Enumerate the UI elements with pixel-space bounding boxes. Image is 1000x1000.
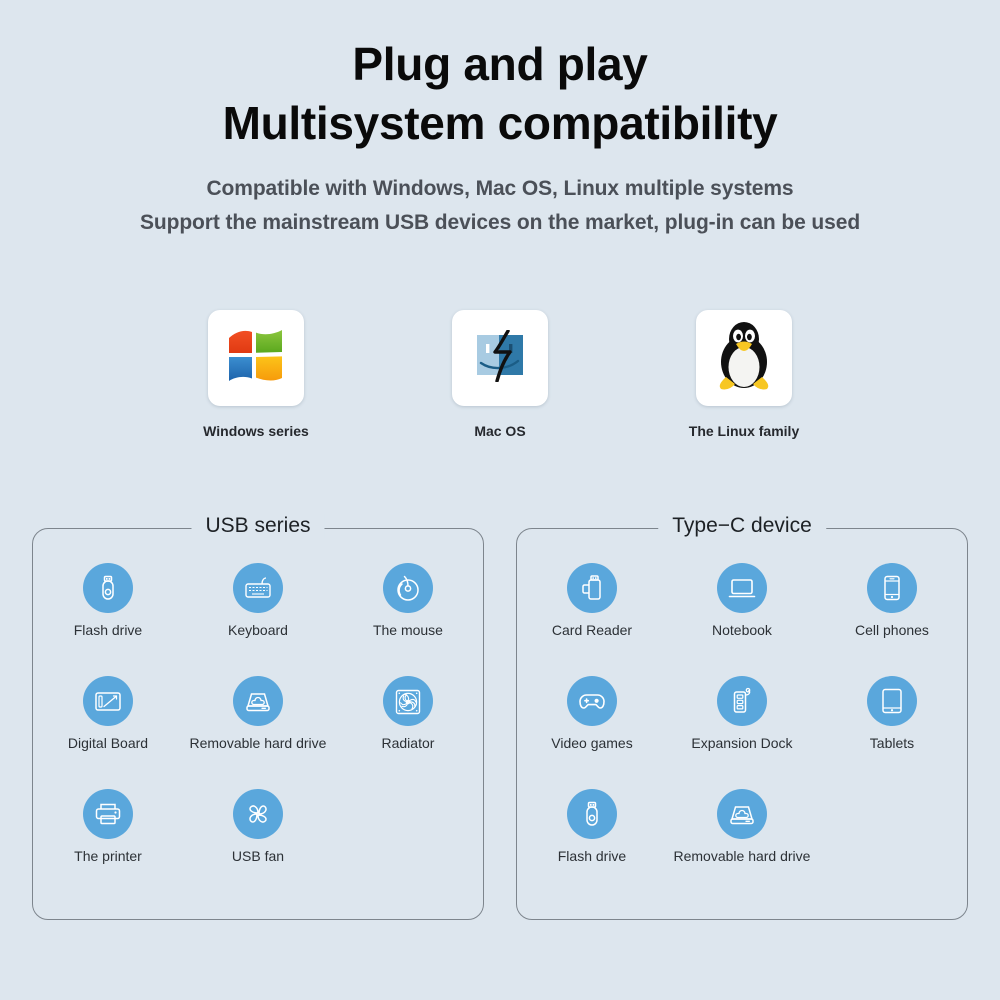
os-label-linux: The Linux family	[678, 423, 810, 439]
device-label: Keyboard	[183, 622, 333, 638]
panel-type-c-device: Type−C device Card Reader	[516, 528, 968, 920]
linux-penguin-logo-icon	[713, 319, 775, 398]
device-label: The mouse	[333, 622, 483, 638]
device-label: Radiator	[333, 735, 483, 751]
device-item-tablets[interactable]: Tablets	[817, 676, 967, 789]
device-label: USB fan	[183, 848, 333, 864]
device-label: Digital Board	[33, 735, 183, 751]
device-item-usb-fan[interactable]: USB fan	[183, 789, 333, 902]
mac-finder-logo-icon	[471, 330, 529, 387]
device-panels: USB series Flash drive	[32, 528, 968, 920]
usb-flash-drive-icon	[83, 563, 133, 613]
device-item-video-games[interactable]: Video games	[517, 676, 667, 789]
panel-usb-series: USB series Flash drive	[32, 528, 484, 920]
product-infographic: Plug and play Multisystem compatibility …	[0, 0, 1000, 1000]
panel-title-type-c-device: Type−C device	[658, 514, 826, 538]
page-title-line-2: Multisystem compatibility	[0, 92, 1000, 154]
card-reader-icon	[567, 563, 617, 613]
subtitle-line-1: Compatible with Windows, Mac OS, Linux m…	[0, 172, 1000, 206]
cooling-fan-radiator-icon	[383, 676, 433, 726]
smartphone-icon	[867, 563, 917, 613]
usb-flash-drive-icon	[567, 789, 617, 839]
device-item-digital-board[interactable]: Digital Board	[33, 676, 183, 789]
device-item-flash-drive[interactable]: Flash drive	[33, 563, 183, 676]
expansion-dock-icon	[717, 676, 767, 726]
device-label: Removable hard drive	[667, 848, 817, 864]
page-title-line-1: Plug and play	[0, 36, 1000, 92]
tablet-icon	[867, 676, 917, 726]
os-item-linux: The Linux family	[678, 310, 810, 439]
os-support-row: Windows series Mac OS	[0, 310, 1000, 439]
device-label: Flash drive	[517, 848, 667, 864]
device-label: Removable hard drive	[183, 735, 333, 751]
device-item-flash-drive[interactable]: Flash drive	[517, 789, 667, 902]
type-c-device-grid: Card Reader Notebook	[517, 563, 967, 902]
device-item-expansion-dock[interactable]: Expansion Dock	[667, 676, 817, 789]
device-item-card-reader[interactable]: Card Reader	[517, 563, 667, 676]
os-tile-macos	[452, 310, 548, 406]
os-item-windows: Windows series	[190, 310, 322, 439]
printer-icon	[83, 789, 133, 839]
panel-title-usb-series: USB series	[191, 514, 324, 538]
os-item-macos: Mac OS	[434, 310, 566, 439]
os-label-macos: Mac OS	[434, 423, 566, 439]
device-item-radiator[interactable]: Radiator	[333, 676, 483, 789]
usb-series-grid: Flash drive	[33, 563, 483, 902]
usb-fan-icon	[233, 789, 283, 839]
device-item-notebook[interactable]: Notebook	[667, 563, 817, 676]
windows-logo-icon	[225, 327, 287, 390]
device-label: Expansion Dock	[667, 735, 817, 751]
device-item-removable-hard-drive[interactable]: Removable hard drive	[183, 676, 333, 789]
header-section: Plug and play Multisystem compatibility …	[0, 36, 1000, 240]
digital-drawing-board-icon	[83, 676, 133, 726]
device-label: Notebook	[667, 622, 817, 638]
os-tile-linux	[696, 310, 792, 406]
keyboard-icon	[233, 563, 283, 613]
device-label: Cell phones	[817, 622, 967, 638]
gamepad-icon	[567, 676, 617, 726]
device-label: The printer	[33, 848, 183, 864]
os-tile-windows	[208, 310, 304, 406]
device-item-keyboard[interactable]: Keyboard	[183, 563, 333, 676]
subtitle-line-2: Support the mainstream USB devices on th…	[0, 206, 1000, 240]
device-item-cell-phones[interactable]: Cell phones	[817, 563, 967, 676]
device-label: Video games	[517, 735, 667, 751]
device-item-the-printer[interactable]: The printer	[33, 789, 183, 902]
external-hard-drive-icon	[717, 789, 767, 839]
laptop-icon	[717, 563, 767, 613]
os-label-windows: Windows series	[190, 423, 322, 439]
mouse-icon	[383, 563, 433, 613]
external-hard-drive-icon	[233, 676, 283, 726]
device-label: Tablets	[817, 735, 967, 751]
device-label: Flash drive	[33, 622, 183, 638]
device-label: Card Reader	[517, 622, 667, 638]
device-item-the-mouse[interactable]: The mouse	[333, 563, 483, 676]
device-item-removable-hard-drive[interactable]: Removable hard drive	[667, 789, 817, 902]
